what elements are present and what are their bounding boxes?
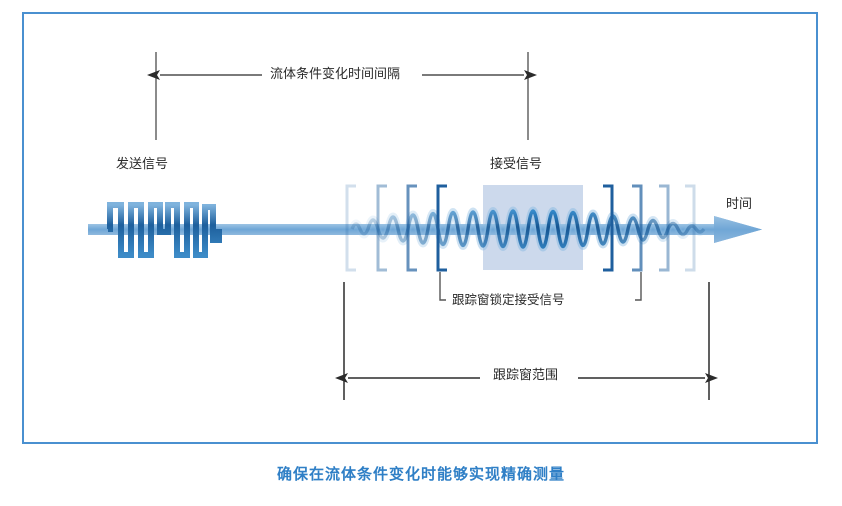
tracking-window-range-label: 跟踪窗范围 [487, 367, 564, 382]
receive-signal-label: 接受信号 [490, 156, 542, 171]
fluid-change-interval-label: 流体条件变化时间间隔 [265, 66, 405, 81]
receive-signal-waveform [352, 210, 704, 248]
figure-root: 发送信号 接受信号 时间 流体条件变化时间间隔 跟踪窗锁定接受信号 跟踪窗范围 … [0, 0, 842, 506]
tracking-window-lock-label: 跟踪窗锁定接受信号 [448, 293, 569, 308]
figure-caption: 确保在流体条件变化时能够实现精确测量 [0, 463, 842, 484]
transmit-signal-label: 发送信号 [116, 156, 168, 171]
diagram-canvas [0, 0, 842, 506]
time-axis-label: 时间 [726, 196, 752, 211]
